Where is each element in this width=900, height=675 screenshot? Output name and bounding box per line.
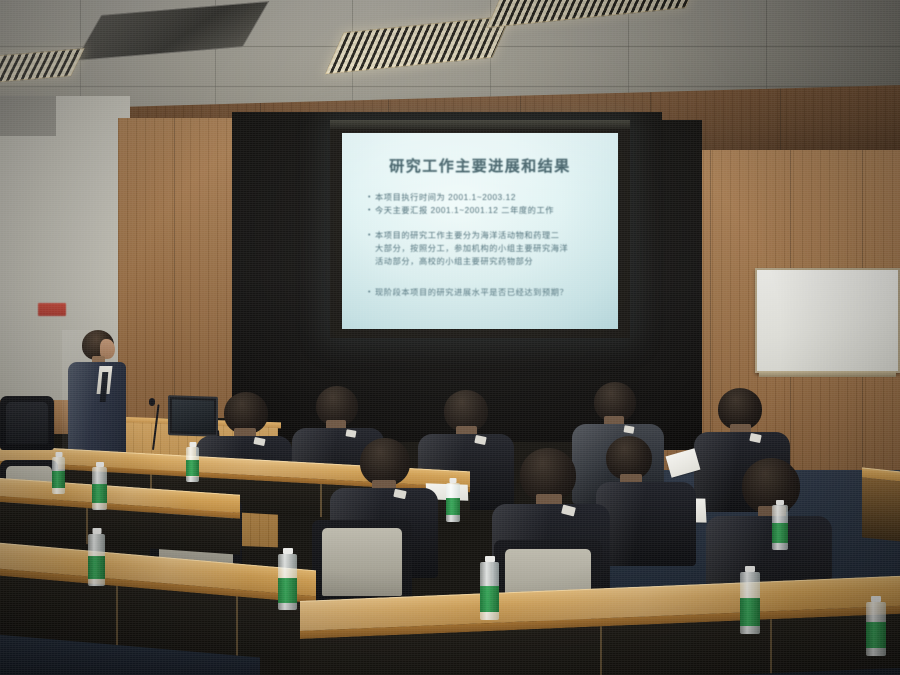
attendee-head (360, 438, 410, 486)
presenter-standing (62, 330, 142, 460)
bottle-podium[interactable] (52, 452, 65, 494)
conference-room-photo: 研究工作主要进展和结果 • 本项目执行时间为 2001.1~2003.12 • … (0, 0, 900, 675)
slide-bullet-4: • 现阶段本项目的研究进展水平是否已经达到预期？ (368, 287, 602, 299)
bottle-label (186, 460, 199, 476)
bottle-front-left[interactable] (88, 528, 105, 586)
attendee-collar (623, 425, 634, 434)
slide-group-1: • 本项目执行时间为 2001.1~2003.12 • 今天主要汇报 2001.… (368, 192, 602, 217)
bullet-dot-icon: • (368, 287, 375, 299)
bottle-label (92, 484, 107, 503)
slide-group-2: • 本项目的研究工作主要分为海洋活动物和药理二 大部分，按照分工，参加机构的小组… (368, 230, 602, 267)
bullet-dot-icon: • (368, 205, 375, 217)
bullet-dot-icon: • (368, 230, 375, 242)
side-table-right (862, 467, 900, 542)
slide-bullet-2-line-1: 今天主要汇报 2001.1~2001.12 二年度的工作 (375, 205, 602, 217)
projection-screen: 研究工作主要进展和结果 • 本项目执行时间为 2001.1~2003.12 • … (330, 120, 630, 338)
bottle-front-right[interactable] (480, 556, 499, 620)
bottle-label (480, 586, 499, 612)
slide-bullet-3: • 本项目的研究工作主要分为海洋活动物和药理二 (368, 230, 602, 242)
slide-bullet-3-line-3: 活动部分，高校的小组主要研究药物部分 (375, 256, 602, 268)
left-wall-upper (0, 96, 56, 136)
attendee-torso (596, 482, 696, 566)
bottle-label (88, 556, 105, 579)
chair-tier2-left[interactable] (0, 396, 54, 450)
chair-front-mid[interactable] (312, 520, 412, 606)
bottle-front-mid[interactable] (278, 548, 297, 610)
projection-screen-surface: 研究工作主要进展和结果 • 本项目执行时间为 2001.1~2003.12 • … (342, 133, 618, 329)
bottle-tier3-left[interactable] (186, 442, 199, 482)
chair-cushion (6, 402, 48, 444)
slide-bullet-1: • 本项目执行时间为 2001.1~2003.12 (368, 192, 602, 204)
slide-bullet-3-line-2: 大部分，按照分工，参加机构的小组主要研究海洋 (375, 243, 602, 255)
slide-bullet-4-line-1: 现阶段本项目的研究进展水平是否已经达到预期？ (375, 287, 602, 299)
bottle-label (866, 622, 886, 648)
red-wall-sign (38, 303, 66, 316)
slide-bullet-3-line-1: 本项目的研究工作主要分为海洋活动物和药理二 (375, 230, 602, 242)
bottle-label (278, 578, 297, 603)
attendee-front-right (596, 436, 696, 566)
whiteboard (755, 268, 900, 373)
bottle-tier2-mid[interactable] (446, 478, 460, 522)
slide-bullet-3-cont-a: 大部分，按照分工，参加机构的小组主要研究海洋 (368, 243, 602, 255)
attendee-collar (345, 429, 356, 438)
slide-group-3: • 现阶段本项目的研究进展水平是否已经达到预期？ (368, 287, 602, 299)
slide-content: 研究工作主要进展和结果 • 本项目执行时间为 2001.1~2003.12 • … (342, 133, 618, 329)
chair-cushion (322, 528, 402, 596)
bullet-dot-icon: • (368, 192, 375, 204)
bottle-label (52, 471, 65, 488)
bottle-tier2-left[interactable] (92, 462, 107, 510)
slide-bullet-2: • 今天主要汇报 2001.1~2001.12 二年度的工作 (368, 205, 602, 217)
bottle-front-far[interactable] (740, 566, 760, 634)
side-table-front (862, 477, 900, 542)
slide-bullet-1-line-1: 本项目执行时间为 2001.1~2003.12 (375, 192, 602, 204)
slide-body: • 本项目执行时间为 2001.1~2003.12 • 今天主要汇报 2001.… (358, 192, 602, 299)
bottle-front-edge[interactable] (866, 596, 886, 656)
bottle-label (446, 498, 460, 515)
bottle-tier2-right[interactable] (772, 500, 788, 550)
slide-title: 研究工作主要进展和结果 (358, 155, 602, 176)
screen-top-rail (330, 120, 630, 129)
slide-bullet-3-cont-b: 活动部分，高校的小组主要研究药物部分 (368, 256, 602, 268)
bottle-label (740, 598, 760, 626)
bottle-label (772, 523, 788, 543)
whiteboard-marker-tray (759, 371, 896, 377)
